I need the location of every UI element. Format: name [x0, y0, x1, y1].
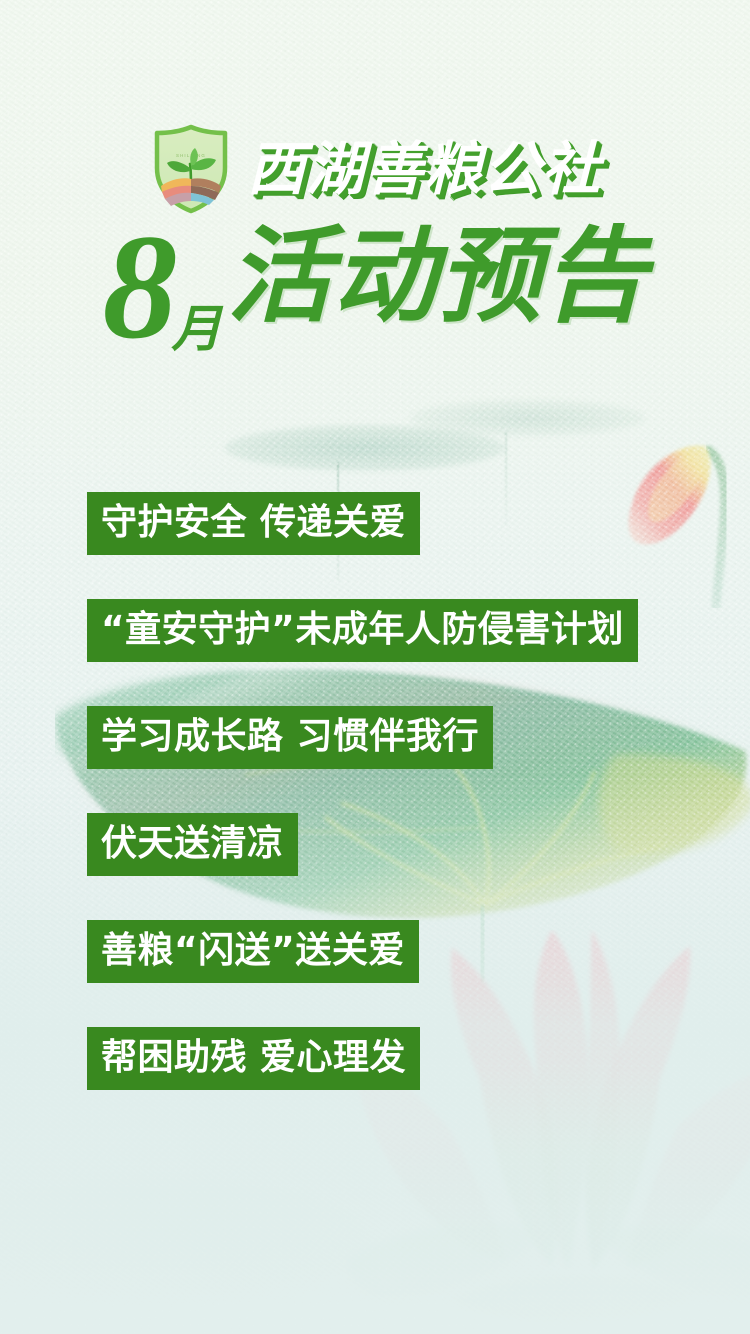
poster-canvas: SHILIANG 西湖善粮公社 8 月 — [0, 0, 750, 1334]
activity-list: 守护安全 传递关爱 “童安守护”未成年人防侵害计划 学习成长路 习惯伴我行 伏天… — [87, 492, 687, 1090]
shield-sprout-logo-icon: SHILIANG — [149, 124, 233, 214]
activity-banner-2: “童安守护”未成年人防侵害计划 — [87, 599, 638, 662]
poster-title-row: 8 月 活动预告 — [0, 224, 750, 346]
distant-lotus-pad-near — [225, 425, 505, 471]
activity-banner-3: 学习成长路 习惯伴我行 — [87, 706, 493, 769]
brand-header: SHILIANG 西湖善粮公社 — [0, 124, 750, 214]
brand-name: 西湖善粮公社 — [247, 140, 601, 198]
page-title: 活动预告 — [227, 224, 647, 328]
month-label: 月 — [171, 304, 221, 354]
list-item: 帮困助残 爱心理发 — [87, 1027, 687, 1090]
list-item: 学习成长路 习惯伴我行 — [87, 706, 687, 769]
distant-lotus-pad-far — [410, 400, 645, 436]
list-item: 善粮“闪送”送关爱 — [87, 920, 687, 983]
activity-banner-5: 善粮“闪送”送关爱 — [87, 920, 419, 983]
lotus-pad-low-left — [0, 1180, 370, 1300]
month-number: 8 — [102, 224, 173, 350]
activity-banner-4: 伏天送清凉 — [87, 813, 298, 876]
month-block: 8 月 — [102, 224, 221, 350]
activity-banner-6: 帮困助残 爱心理发 — [87, 1027, 420, 1090]
list-item: 守护安全 传递关爱 — [87, 492, 687, 555]
activity-banner-1: 守护安全 传递关爱 — [87, 492, 420, 555]
list-item: 伏天送清凉 — [87, 813, 687, 876]
list-item: “童安守护”未成年人防侵害计划 — [87, 599, 687, 662]
